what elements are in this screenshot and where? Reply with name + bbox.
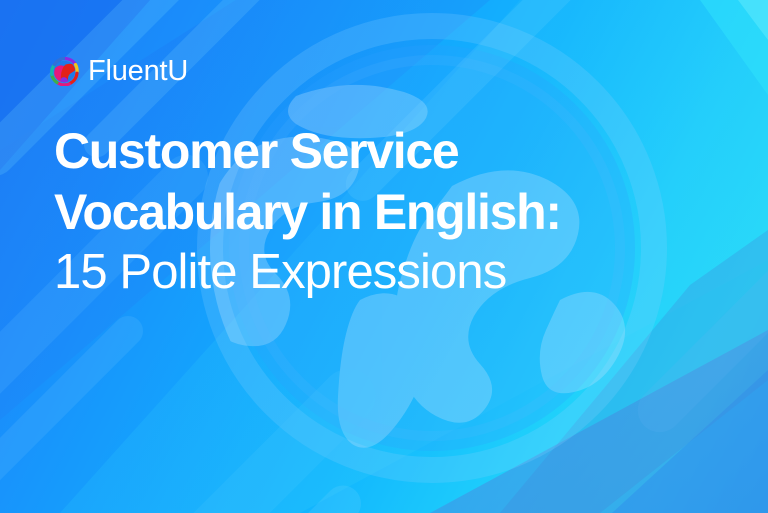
headline-block: Customer Service Vocabulary in English: … [54, 126, 734, 297]
headline-line-1: Customer Service [54, 126, 734, 176]
fluentu-wordmark: FluentU [88, 57, 188, 86]
headline-line-3: 15 Polite Expressions [54, 248, 734, 297]
fluentu-logo-lockup[interactable]: FluentU [50, 52, 188, 90]
blog-header-banner: FluentU Customer Service Vocabulary in E… [0, 0, 768, 513]
fluentu-globe-logo-icon [50, 57, 79, 86]
headline-line-2: Vocabulary in English: [54, 187, 734, 237]
